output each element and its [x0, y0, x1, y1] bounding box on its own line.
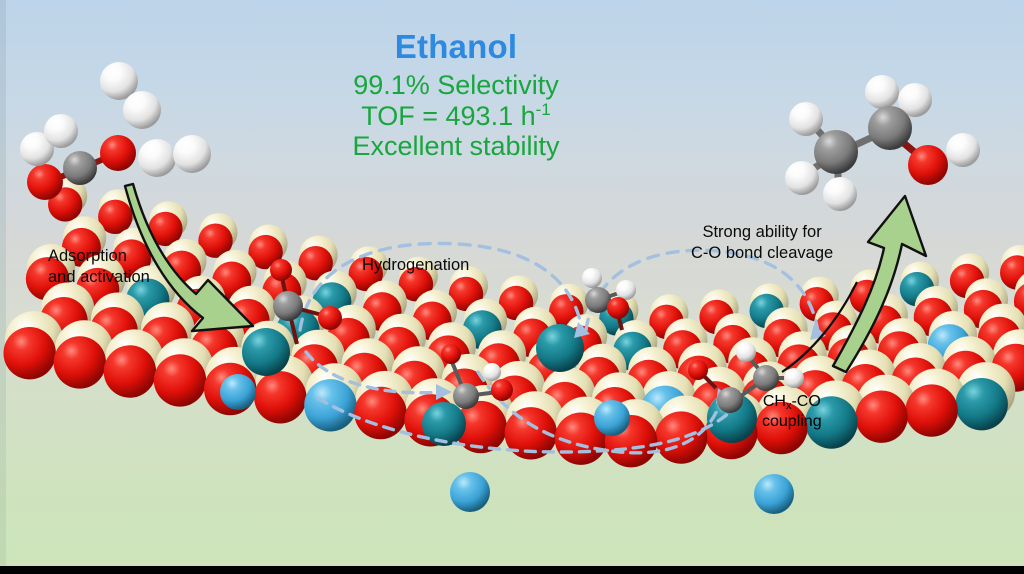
- atom-hydrogen: [173, 135, 211, 173]
- label-hydrogenation-line1: Hydrogenation: [362, 255, 469, 276]
- atom-hydrogen: [138, 139, 176, 177]
- label-adsorption-line1: Adsorption: [48, 246, 150, 267]
- figure-canvas: Ethanol 99.1% Selectivity TOF = 493.1 h-…: [0, 0, 1024, 574]
- label-coupling-line2: coupling: [762, 412, 822, 432]
- label-coupling-post: -CO: [791, 393, 820, 410]
- atom-hydrogen: [44, 114, 78, 148]
- label-coupling-sub: x: [786, 400, 792, 412]
- page-title: Ethanol: [286, 30, 626, 64]
- molecule-hydrogen-3: [138, 135, 211, 177]
- molecule-hydrogen-1: [100, 62, 161, 129]
- label-cleavage-line2: C-O bond cleavage: [691, 243, 833, 264]
- atom-carbon: [814, 130, 858, 174]
- atom-hydrogen: [865, 75, 899, 109]
- label-hydrogenation: Hydrogenation: [362, 255, 469, 276]
- metric-tof-exponent: -1: [536, 100, 551, 119]
- label-coupling-line1: CHx-CO: [762, 392, 822, 412]
- label-adsorption-line2: and activation: [48, 267, 150, 288]
- label-coupling-pre: CH: [763, 393, 786, 410]
- label-chx-co-coupling: CHx-CO coupling: [762, 392, 822, 431]
- atom-hydrogen: [123, 91, 161, 129]
- atom-oxygen: [100, 135, 136, 171]
- atom-carbon: [63, 151, 97, 185]
- atom-hydrogen: [789, 102, 823, 136]
- metric-tof-text: TOF = 493.1 h: [361, 101, 535, 131]
- label-adsorption: Adsorption and activation: [48, 246, 150, 288]
- label-c-o-cleavage: Strong ability for C-O bond cleavage: [691, 222, 833, 264]
- atom-hydrogen: [946, 133, 980, 167]
- footer-bar: [0, 566, 1024, 574]
- metric-tof: TOF = 493.1 h-1: [286, 101, 626, 130]
- atom-hydrogen: [823, 177, 857, 211]
- molecule-ethanol: [785, 75, 980, 211]
- atom-carbon: [868, 106, 912, 150]
- atom-hydrogen: [785, 161, 819, 195]
- metric-selectivity: 99.1% Selectivity: [286, 71, 626, 99]
- metric-stability: Excellent stability: [286, 132, 626, 160]
- atom-oxygen: [908, 145, 948, 185]
- label-cleavage-line1: Strong ability for: [691, 222, 833, 243]
- title-block: Ethanol 99.1% Selectivity TOF = 493.1 h-…: [286, 30, 626, 161]
- atom-oxygen: [27, 164, 63, 200]
